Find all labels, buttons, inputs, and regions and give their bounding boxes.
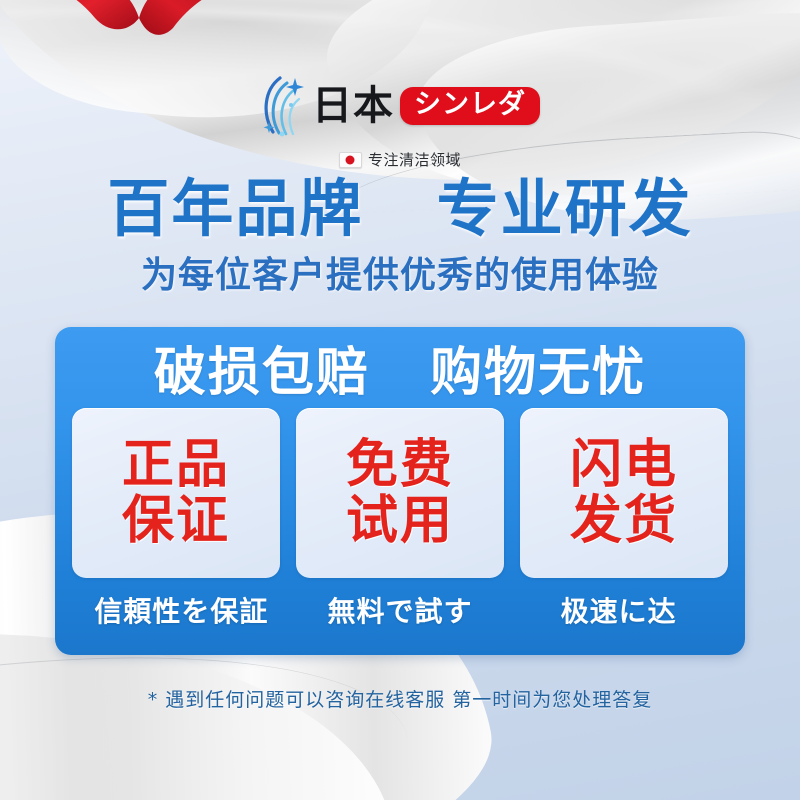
brand-logo-row: 日本 シンレダ [260, 74, 540, 138]
brand-name-jp-badge: シンレダ [400, 87, 540, 125]
feature-caption-authentic: 信頼性を保証 [72, 590, 291, 630]
feature-card-line1: 免费 [346, 437, 454, 493]
promo-poster: 日本 シンレダ 专注清洁领域 百年品牌 专业研发 为每位客户提供优秀的使用体验 … [0, 0, 800, 800]
feature-card-authentic: 正品 保证 [72, 408, 280, 578]
feature-card-free-trial: 免费 试用 [296, 408, 504, 578]
page-subtitle: 为每位客户提供优秀的使用体验 [0, 258, 800, 294]
feature-card-line1: 闪电 [570, 437, 678, 493]
brand-logo: 日本 シンレダ 专注清洁领域 [0, 74, 800, 170]
headline-part1: 百年品牌 [107, 172, 363, 245]
swoosh-sparkle-icon [260, 74, 306, 138]
brand-name-cn: 日本 [312, 86, 394, 126]
guarantee-panel: 破损包赔 购物无忧 正品 保证 免费 试用 闪电 发货 信頼性を保証 無料で試す… [55, 327, 745, 655]
panel-title-part2: 购物无忧 [430, 343, 646, 403]
feature-card-line2: 发货 [570, 493, 678, 549]
feature-card-list: 正品 保证 免费 试用 闪电 发货 [55, 408, 745, 578]
panel-title-part1: 破损包赔 [154, 343, 370, 403]
panel-title: 破损包赔 购物无忧 [55, 344, 745, 402]
feature-caption-list: 信頼性を保証 無料で試す 极速に达 [55, 590, 745, 630]
feature-card-line2: 保证 [122, 493, 230, 549]
footer-note: * 遇到任何问题可以咨询在线客服 第一时间为您处理答复 [0, 685, 800, 712]
japan-flag-icon [339, 152, 362, 168]
feature-card-fast-shipping: 闪电 发货 [520, 408, 728, 578]
red-ribbon-icon [55, 0, 215, 64]
brand-tagline-row: 专注清洁领域 [0, 149, 800, 170]
feature-card-line1: 正品 [122, 437, 230, 493]
feature-card-line2: 试用 [346, 493, 454, 549]
feature-caption-free-trial: 無料で試す [291, 590, 510, 630]
page-title: 百年品牌 专业研发 [0, 178, 800, 240]
headline-part2: 专业研发 [437, 172, 693, 245]
brand-tagline-text: 专注清洁领域 [368, 149, 461, 170]
feature-caption-fast-shipping: 极速に达 [509, 590, 728, 630]
